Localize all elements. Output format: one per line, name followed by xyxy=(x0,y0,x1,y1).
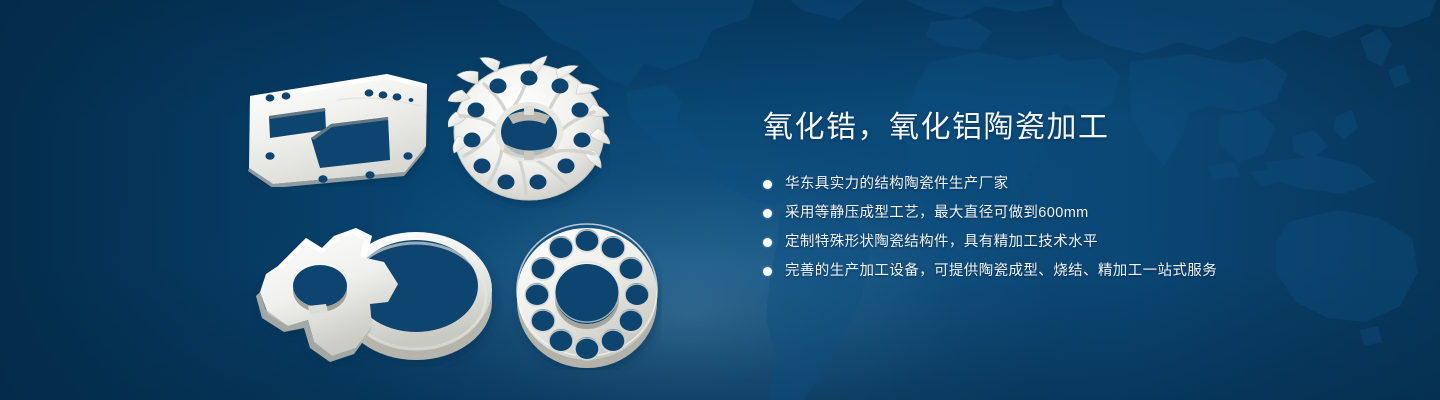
list-item: 采用等静压成型工艺，最大直径可做到600mm xyxy=(763,203,1383,224)
list-item: 华东具实力的结构陶瓷件生产厂家 xyxy=(763,174,1383,195)
bullet-dot-icon xyxy=(763,267,772,276)
ceramic-processing-banner: 氧化锆，氧化铝陶瓷加工 华东具实力的结构陶瓷件生产厂家 采用等静压成型工艺，最大… xyxy=(0,0,1440,400)
feature-text: 采用等静压成型工艺，最大直径可做到600mm xyxy=(785,203,1089,224)
banner-copy: 氧化锆，氧化铝陶瓷加工 华东具实力的结构陶瓷件生产厂家 采用等静压成型工艺，最大… xyxy=(763,108,1383,290)
product-photo-cluster xyxy=(0,0,720,400)
page-title: 氧化锆，氧化铝陶瓷加工 xyxy=(763,108,1383,148)
ceramic-vaned-impeller xyxy=(448,48,610,208)
ceramic-machined-plate xyxy=(245,72,430,187)
feature-text: 完善的生产加工设备，可提供陶瓷成型、烧结、精加工一站式服务 xyxy=(785,261,1217,282)
ceramic-cross-plate-and-ring xyxy=(248,222,508,367)
ceramic-perforated-flange-disc xyxy=(512,220,662,370)
bullet-dot-icon xyxy=(763,180,772,189)
list-item: 完善的生产加工设备，可提供陶瓷成型、烧结、精加工一站式服务 xyxy=(763,261,1383,282)
feature-text: 华东具实力的结构陶瓷件生产厂家 xyxy=(785,174,1009,195)
bullet-dot-icon xyxy=(763,238,772,247)
feature-list: 华东具实力的结构陶瓷件生产厂家 采用等静压成型工艺，最大直径可做到600mm 定… xyxy=(763,174,1383,282)
bullet-dot-icon xyxy=(763,209,772,218)
list-item: 定制特殊形状陶瓷结构件，具有精加工技术水平 xyxy=(763,232,1383,253)
feature-text: 定制特殊形状陶瓷结构件，具有精加工技术水平 xyxy=(785,232,1098,253)
